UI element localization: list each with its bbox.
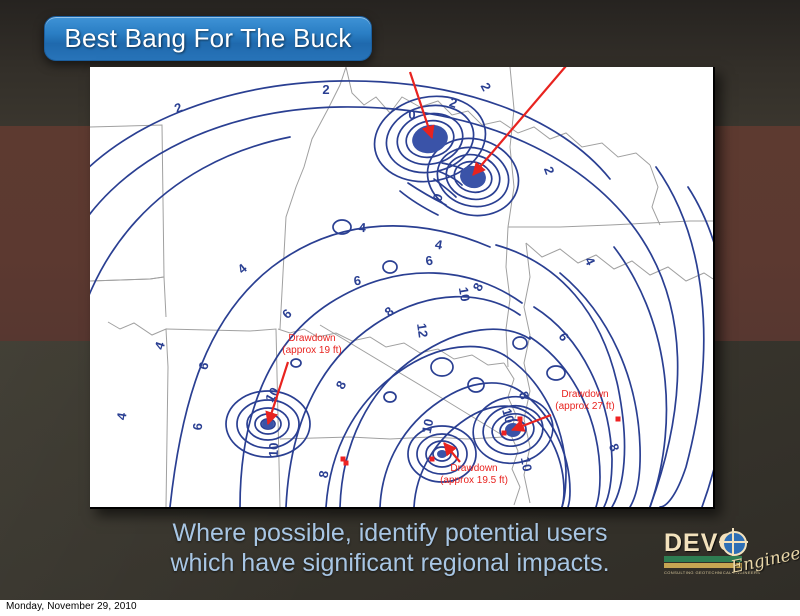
contour-label: 2 <box>478 80 495 93</box>
contour-map-panel: 2222224444446666668888881010101010101200… <box>90 67 713 507</box>
annotation-label-drawdown-19-5: Drawdown(approx 19.5 ft) <box>430 463 518 487</box>
annotation-title: Drawdown <box>430 463 518 475</box>
footer-date: Monday, November 29, 2010 <box>6 601 137 612</box>
caption-line-2: which have significant regional impacts. <box>120 548 660 578</box>
contour-label: 8 <box>382 303 397 319</box>
contour-label: 4 <box>235 260 251 277</box>
contour-label: 12 <box>414 322 431 338</box>
slide-caption: Where possible, identify potential users… <box>120 518 660 578</box>
contour-label: 10 <box>499 407 517 425</box>
contour-label: 4 <box>434 237 444 253</box>
contour-label: 4 <box>114 411 130 421</box>
contour-label: 2 <box>322 82 329 97</box>
annotation-value: (approx 19 ft) <box>272 345 352 357</box>
slide-canvas: Best Bang For The Buck <box>0 0 800 616</box>
contour-label: 4 <box>582 254 599 268</box>
well-marker <box>430 457 435 462</box>
caption-line-1: Where possible, identify potential users <box>120 518 660 548</box>
slide-title: Best Bang For The Buck <box>64 23 351 54</box>
contour-label: 0 <box>408 107 415 122</box>
contour-label: 4 <box>151 339 168 351</box>
contour-label: 6 <box>353 273 362 289</box>
contour-label: 10 <box>518 456 535 473</box>
slide-title-banner: Best Bang For The Buck <box>44 16 372 61</box>
annotation-value: (approx 19.5 ft) <box>430 475 518 487</box>
contour-label: 8 <box>316 469 332 479</box>
contour-label: 0 <box>429 191 446 203</box>
well-marker <box>616 417 621 422</box>
contour-label: 6 <box>424 253 434 269</box>
contour-label: 6 <box>279 306 295 322</box>
contour-label: 4 <box>358 220 367 236</box>
well-marker <box>341 457 346 462</box>
annotation-arrows <box>268 67 566 462</box>
contour-label: 6 <box>195 360 211 371</box>
contour-label: 2 <box>541 164 558 176</box>
contour-label: 10 <box>266 442 281 457</box>
well-location-markers <box>341 417 621 466</box>
contour-label: 10 <box>419 417 437 434</box>
contour-label: 10 <box>456 286 473 303</box>
contour-map-graphic: 2222224444446666668888881010101010101200 <box>90 67 713 507</box>
contour-label: 6 <box>556 330 573 343</box>
contour-label: 6 <box>190 422 206 431</box>
annotation-value: (approx 27 ft) <box>545 401 625 413</box>
contour-label: 8 <box>606 441 623 453</box>
annotation-label-drawdown-27: Drawdown(approx 27 ft) <box>545 389 625 413</box>
contour-label: 8 <box>333 378 350 391</box>
annotation-title: Drawdown <box>545 389 625 401</box>
well-marker <box>502 431 507 436</box>
well-marker <box>518 417 523 422</box>
devo-engineering-logo: DEVO CONSULTING GEOTECHNICAL ENGINEERS E… <box>660 525 792 587</box>
globe-icon <box>722 531 747 556</box>
annotation-title: Drawdown <box>272 333 352 345</box>
annotation-label-drawdown-19: Drawdown(approx 19 ft) <box>272 333 352 357</box>
